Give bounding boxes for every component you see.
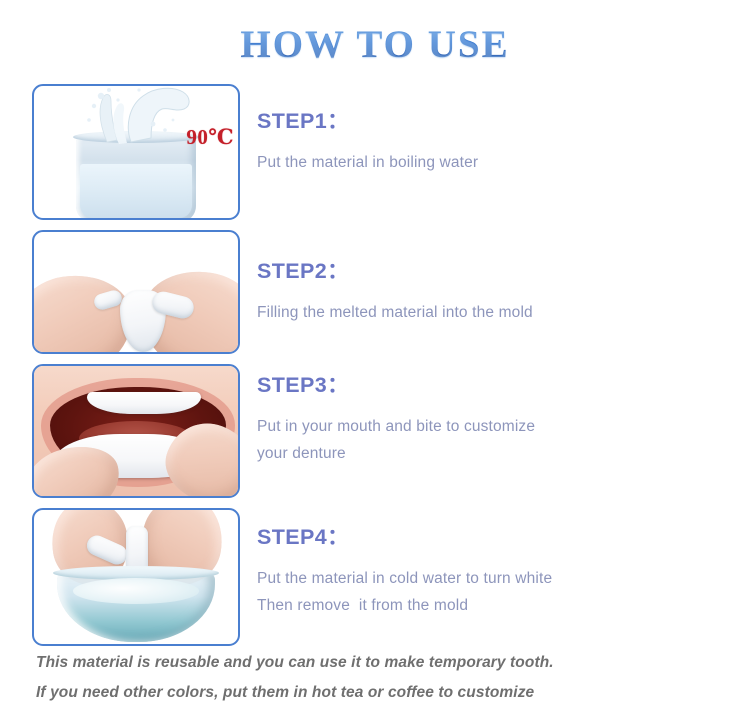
temperature-badge: 90℃: [186, 124, 234, 150]
step-description: Put the material in cold water to turn w…: [257, 565, 750, 619]
step-label: STEP1：: [257, 110, 750, 134]
step-description-line: Put the material in boiling water: [257, 149, 750, 176]
step-label: STEP2：: [257, 260, 750, 284]
step-row: STEP4： Put the material in cold water to…: [0, 508, 750, 646]
step-description: Put in your mouth and bite to customize …: [257, 413, 750, 467]
step-label: STEP4：: [257, 526, 750, 550]
boiling-water-glass-photo: 90℃: [32, 84, 240, 220]
page-title-container: HOW TO USE: [0, 22, 750, 67]
step-description-line: Put in your mouth and bite to customize: [257, 413, 750, 440]
steps-list: 90℃ STEP1： Put the material in boiling w…: [0, 84, 750, 656]
glass-bowl-shape: [57, 572, 215, 642]
step-row: 90℃ STEP1： Put the material in boiling w…: [0, 84, 750, 220]
step-description-line: Then remove it from the mold: [257, 592, 750, 619]
step-text-block: STEP3： Put in your mouth and bite to cus…: [240, 364, 750, 467]
step-text-block: STEP2： Filling the melted material into …: [240, 230, 750, 326]
step-row: STEP3： Put in your mouth and bite to cus…: [0, 364, 750, 498]
cold-water-bowl-photo: [32, 508, 240, 646]
step-description-line: Filling the melted material into the mol…: [257, 299, 750, 326]
water-foam-shape: [73, 578, 199, 604]
footer-line: This material is reusable and you can us…: [36, 648, 726, 678]
step-text-block: STEP4： Put the material in cold water to…: [240, 508, 750, 619]
page-title: HOW TO USE: [240, 22, 509, 67]
step-description: Put the material in boiling water: [257, 149, 750, 176]
step-description: Filling the melted material into the mol…: [257, 299, 750, 326]
step-description-line: your denture: [257, 440, 750, 467]
step-label: STEP3：: [257, 374, 750, 398]
mouth-bite-denture-photo: [32, 364, 240, 498]
footer-line: If you need other colors, put them in ho…: [36, 678, 726, 708]
hands-filling-mold-photo: [32, 230, 240, 354]
step-text-block: STEP1： Put the material in boiling water: [240, 84, 750, 176]
step-description-line: Put the material in cold water to turn w…: [257, 565, 750, 592]
step-row: STEP2： Filling the melted material into …: [0, 230, 750, 354]
footer-note: This material is reusable and you can us…: [36, 648, 726, 708]
